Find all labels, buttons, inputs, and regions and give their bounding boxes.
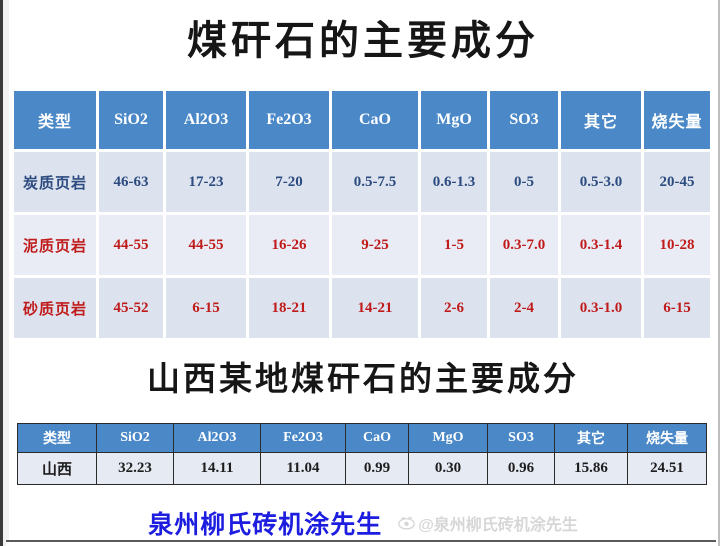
cell-loss: 6-15	[644, 278, 710, 338]
cell-cao: 0.99	[346, 453, 409, 485]
cell-so3: 0.96	[488, 453, 555, 485]
row-label-shanxi: 山西	[18, 453, 97, 485]
brand-text: 泉州柳氏砖机涂先生	[148, 505, 382, 541]
cell-sio2: 32.23	[97, 453, 174, 485]
cell-al2o3: 14.11	[174, 453, 261, 485]
watermark: @泉州柳氏砖机涂先生	[398, 511, 578, 535]
cell-sio2: 44-55	[99, 215, 163, 275]
cell-cao: 0.5-7.5	[332, 152, 418, 212]
page-title-secondary: 山西某地煤矸石的主要成分	[3, 357, 720, 403]
cell-mgo: 2-6	[421, 278, 487, 338]
table-header-row: 类型 SiO2 Al2O3 Fe2O3 CaO MgO SO3 其它 烧失量	[18, 424, 707, 453]
table-row: 山西 32.23 14.11 11.04 0.99 0.30 0.96 15.8…	[18, 453, 707, 485]
cell-so3: 0-5	[490, 152, 558, 212]
cell-mgo: 1-5	[421, 215, 487, 275]
cell-loss: 24.51	[628, 453, 707, 485]
col-header-loss: 烧失量	[644, 91, 710, 149]
col-header-other: 其它	[561, 91, 641, 149]
table-row: 泥质页岩 44-55 44-55 16-26 9-25 1-5 0.3-7.0 …	[14, 215, 710, 275]
cell-al2o3: 44-55	[166, 215, 246, 275]
watermark-text: @泉州柳氏砖机涂先生	[418, 511, 578, 535]
col-header-fe2o3: Fe2O3	[249, 91, 329, 149]
footer-bar: 泉州柳氏砖机涂先生 @泉州柳氏砖机涂先生	[3, 502, 720, 544]
cell-mgo: 0.30	[409, 453, 488, 485]
col-header-al2o3: Al2O3	[166, 91, 246, 149]
cell-fe2o3: 16-26	[249, 215, 329, 275]
bottom-border-strip	[6, 540, 716, 546]
cell-sio2: 45-52	[99, 278, 163, 338]
cell-al2o3: 17-23	[166, 152, 246, 212]
table-header-row: 类型 SiO2 Al2O3 Fe2O3 CaO MgO SO3 其它 烧失量	[14, 91, 710, 149]
page-title-main: 煤矸石的主要成分	[3, 14, 720, 68]
row-label-argillaceous-shale: 泥质页岩	[14, 215, 96, 275]
row-label-sandy-shale: 砂质页岩	[14, 278, 96, 338]
col-header-other: 其它	[555, 424, 628, 453]
cell-fe2o3: 7-20	[249, 152, 329, 212]
col-header-sio2: SiO2	[99, 91, 163, 149]
cell-cao: 9-25	[332, 215, 418, 275]
cell-loss: 20-45	[644, 152, 710, 212]
slide-canvas: 煤矸石的主要成分 类型 SiO2 Al2O3 Fe2O3 CaO MgO SO3…	[0, 0, 720, 546]
table-row: 炭质页岩 46-63 17-23 7-20 0.5-7.5 0.6-1.3 0-…	[14, 152, 710, 212]
cell-other: 15.86	[555, 453, 628, 485]
cell-fe2o3: 11.04	[261, 453, 346, 485]
composition-table-ranges: 类型 SiO2 Al2O3 Fe2O3 CaO MgO SO3 其它 烧失量 炭…	[11, 88, 713, 341]
cell-al2o3: 6-15	[166, 278, 246, 338]
cell-other: 0.5-3.0	[561, 152, 641, 212]
cell-cao: 14-21	[332, 278, 418, 338]
table-row: 砂质页岩 45-52 6-15 18-21 14-21 2-6 2-4 0.3-…	[14, 278, 710, 338]
col-header-mgo: MgO	[421, 91, 487, 149]
cell-other: 0.3-1.0	[561, 278, 641, 338]
cell-so3: 0.3-7.0	[490, 215, 558, 275]
weibo-eye-icon	[398, 516, 415, 530]
cell-so3: 2-4	[490, 278, 558, 338]
col-header-so3: SO3	[488, 424, 555, 453]
col-header-cao: CaO	[332, 91, 418, 149]
col-header-fe2o3: Fe2O3	[261, 424, 346, 453]
col-header-mgo: MgO	[409, 424, 488, 453]
col-header-loss: 烧失量	[628, 424, 707, 453]
col-header-type: 类型	[18, 424, 97, 453]
left-edge-strip	[3, 0, 9, 546]
col-header-sio2: SiO2	[97, 424, 174, 453]
cell-fe2o3: 18-21	[249, 278, 329, 338]
col-header-type: 类型	[14, 91, 96, 149]
cell-other: 0.3-1.4	[561, 215, 641, 275]
cell-mgo: 0.6-1.3	[421, 152, 487, 212]
col-header-al2o3: Al2O3	[174, 424, 261, 453]
cell-loss: 10-28	[644, 215, 710, 275]
cell-sio2: 46-63	[99, 152, 163, 212]
row-label-carbonaceous-shale: 炭质页岩	[14, 152, 96, 212]
col-header-cao: CaO	[346, 424, 409, 453]
composition-table-shanxi: 类型 SiO2 Al2O3 Fe2O3 CaO MgO SO3 其它 烧失量 山…	[17, 423, 707, 485]
col-header-so3: SO3	[490, 91, 558, 149]
